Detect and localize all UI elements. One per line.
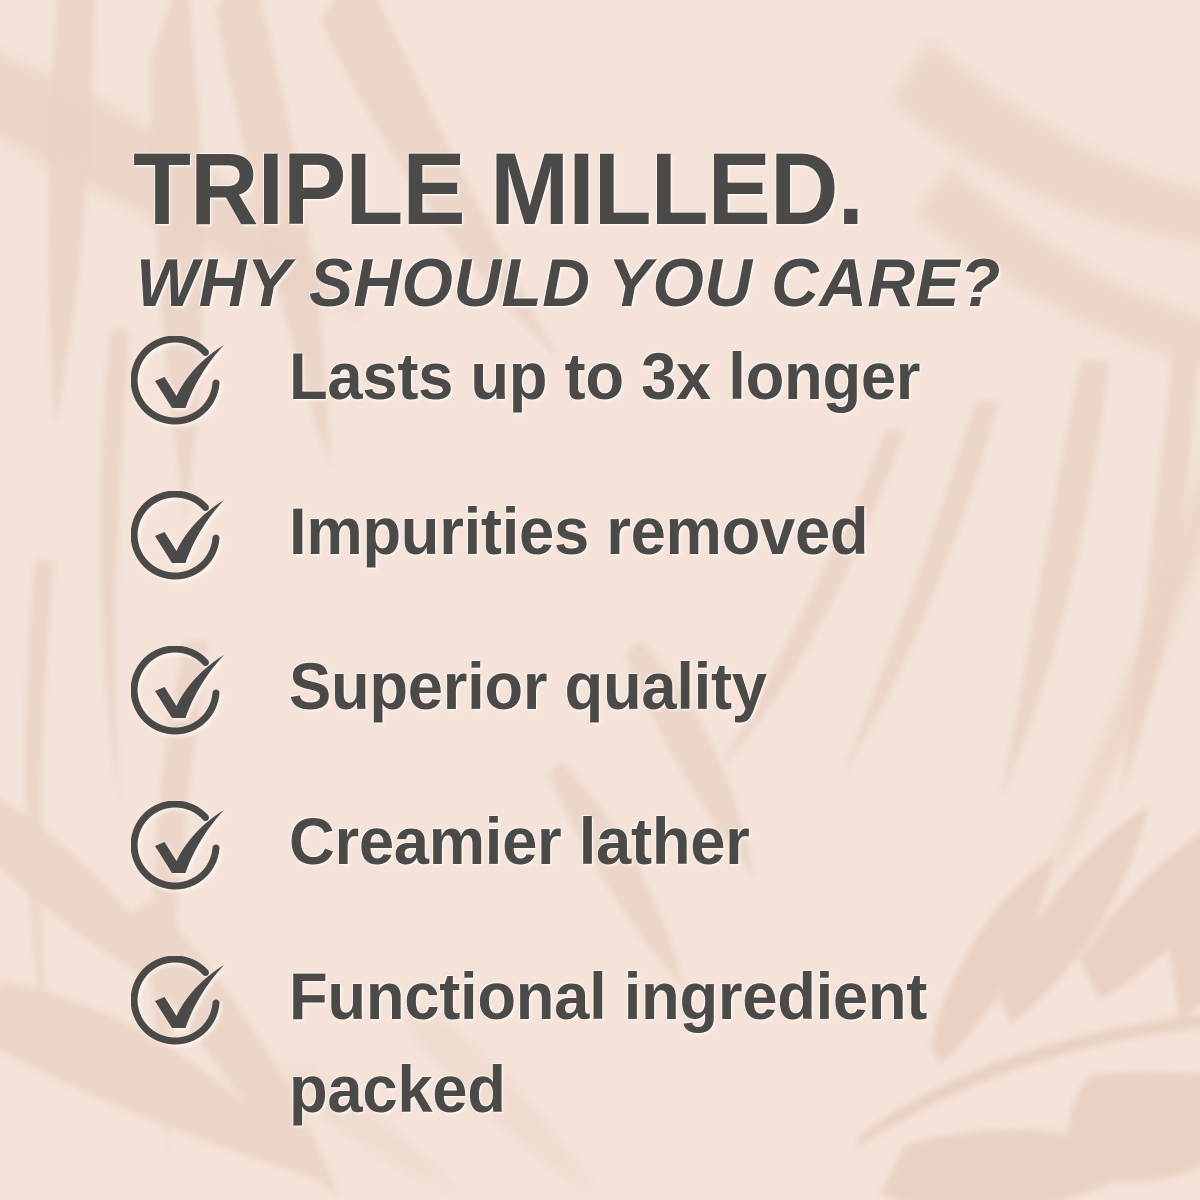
check-circle-icon	[131, 336, 231, 436]
triple-milled-benefits-poster: TRIPLE MILLED. WHY SHOULD YOU CARE? Last…	[0, 0, 1200, 1200]
list-item-label: Creamier lather	[289, 795, 1038, 888]
check-circle-icon	[131, 646, 231, 746]
list-item-label: Lasts up to 3x longer	[289, 330, 1038, 423]
page-title: TRIPLE MILLED.	[133, 138, 863, 240]
list-item-label: Superior quality	[289, 640, 1038, 733]
check-circle-icon	[131, 801, 231, 901]
page-subtitle: WHY SHOULD YOU CARE?	[136, 249, 1001, 317]
list-item: Impurities removed	[0, 491, 1200, 646]
list-item-label: Impurities removed	[289, 485, 1038, 578]
list-item: Lasts up to 3x longer	[0, 336, 1200, 491]
list-item: Creamier lather	[0, 801, 1200, 956]
list-item: Functional ingredient packed	[0, 956, 1200, 1111]
list-item-label: Functional ingredient packed	[289, 950, 1038, 1136]
list-item: Superior quality	[0, 646, 1200, 801]
benefit-list: Lasts up to 3x longer Impurities removed	[0, 336, 1200, 1111]
check-circle-icon	[131, 491, 231, 591]
check-circle-icon	[131, 956, 231, 1056]
